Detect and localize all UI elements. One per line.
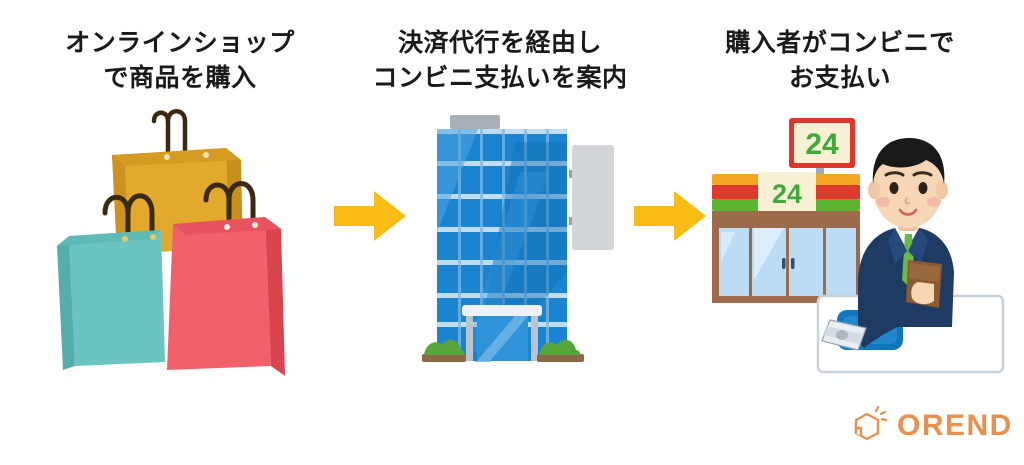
convenience-store-payment-illustration: 24 24 xyxy=(690,112,1010,387)
convenience-store-front: 24 xyxy=(712,172,860,303)
step-3-title-line2: お支払い xyxy=(685,61,995,96)
step-3-title-line1: 購入者がコンビニで xyxy=(685,26,995,61)
office-building-illustration xyxy=(420,112,620,367)
rooftop-unit xyxy=(450,115,500,129)
step-2-title-line1: 決済代行を経由し xyxy=(345,26,655,61)
step-1-title: オンラインショップ で商品を購入 xyxy=(25,26,335,95)
pole-sign-number: 24 xyxy=(805,128,839,161)
hexagon-house-sparkle-icon xyxy=(849,406,889,446)
entrance-canopy xyxy=(462,305,542,316)
step-2-title-line2: コンビニ支払いを案内 xyxy=(345,61,655,96)
building-signboard xyxy=(572,145,614,250)
storefront-sign-number: 24 xyxy=(772,179,802,209)
arrow-step1-to-step2 xyxy=(334,189,406,243)
step-1-title-line1: オンラインショップ xyxy=(25,26,335,61)
orend-logo: OREND xyxy=(849,402,1009,450)
shopping-bags-illustration xyxy=(55,108,320,383)
step-2-title: 決済代行を経由し コンビニ支払いを案内 xyxy=(345,26,655,95)
step-3-title: 購入者がコンビニで お支払い xyxy=(685,26,995,95)
step-1-title-line2: で商品を購入 xyxy=(25,61,335,96)
infographic-canvas: オンラインショップ で商品を購入 決済代行を経由し コンビニ支払いを案内 購入者… xyxy=(0,0,1024,465)
logo-text: OREND xyxy=(897,411,1013,441)
